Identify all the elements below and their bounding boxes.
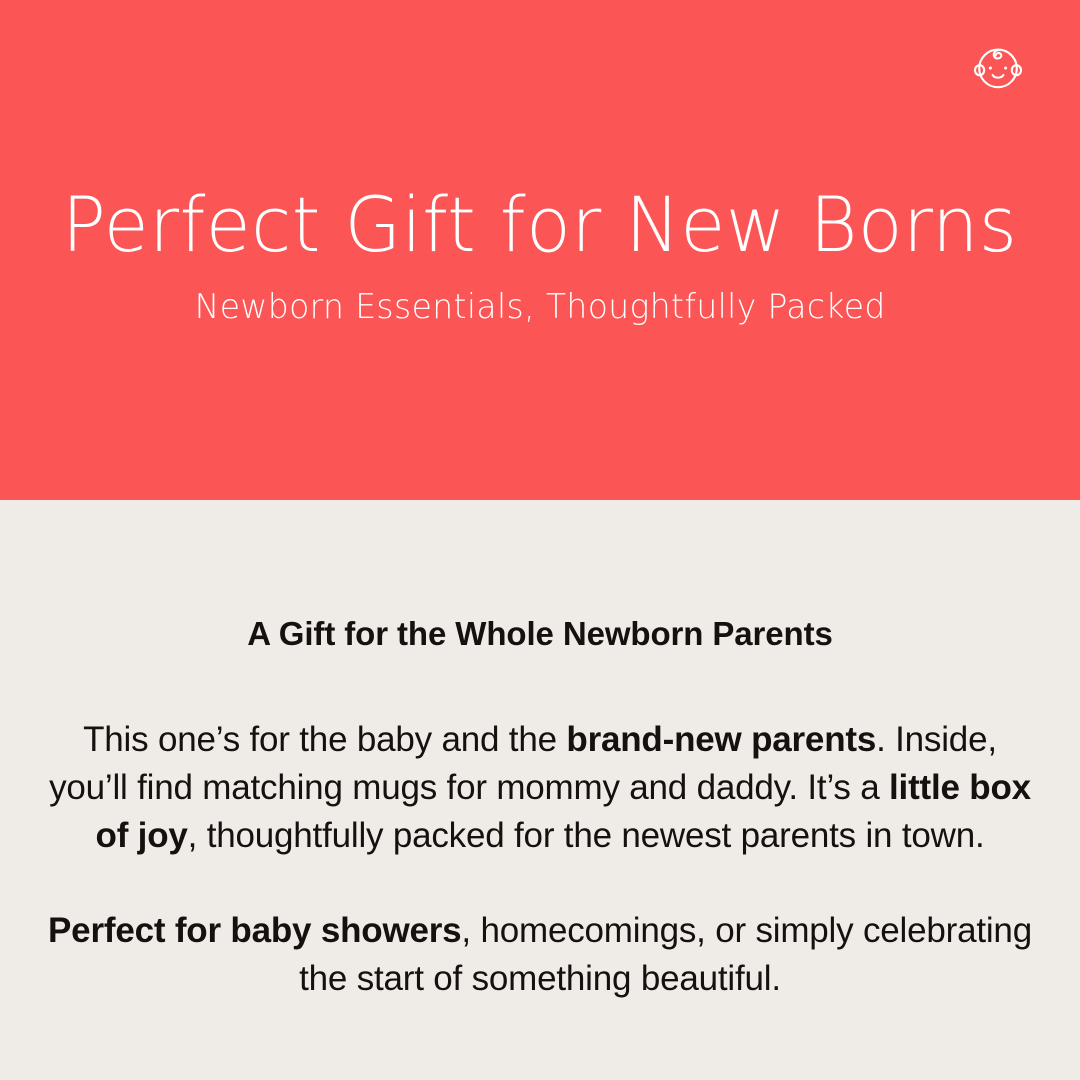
body-content: A Gift for the Whole Newborn Parents Thi… — [0, 500, 1080, 1080]
page-title: Perfect Gift for New Borns — [62, 186, 1017, 264]
page-subtitle: Newborn Essentials, Thoughtfully Packed — [194, 289, 885, 326]
plain-text: , thoughtfully packed for the newest par… — [188, 816, 985, 855]
body-paragraph-one: This one’s for the baby and the brand-ne… — [45, 716, 1035, 860]
header-banner: Perfect Gift for New Borns Newborn Essen… — [0, 0, 1080, 500]
emphasis-text: Perfect for baby showers — [48, 911, 461, 950]
body-heading: A Gift for the Whole Newborn Parents — [247, 614, 833, 654]
plain-text: This one’s for the baby and the — [83, 720, 566, 759]
body-paragraph-two: Perfect for baby showers, homecomings, o… — [45, 907, 1035, 1003]
promo-card: Perfect Gift for New Borns Newborn Essen… — [0, 0, 1080, 1080]
header-text-block: Perfect Gift for New Borns Newborn Essen… — [0, 0, 1080, 500]
emphasis-text: brand-new parents — [566, 720, 876, 759]
